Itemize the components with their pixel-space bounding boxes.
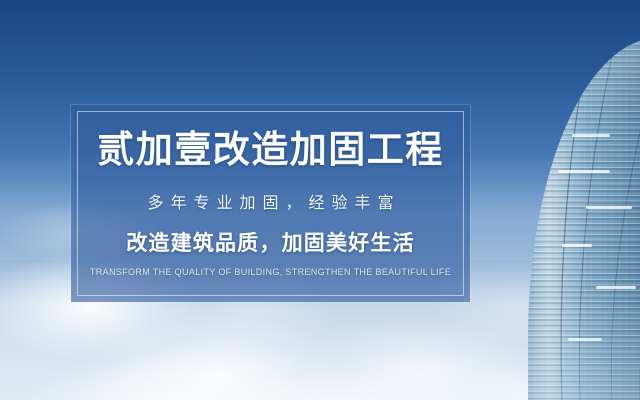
tower-shading-overlay [528,38,640,400]
banner-title: 贰加壹改造加固工程 [97,131,444,170]
banner-subtitle-secondary: 改造建筑品质，加固美好生活 [126,227,415,257]
skyscraper-image [510,38,640,400]
translucent-text-panel: 贰加壹改造加固工程 多年专业加固，经验丰富 改造建筑品质，加固美好生活 TRAN… [71,105,470,302]
hero-banner: 贰加壹改造加固工程 多年专业加固，经验丰富 改造建筑品质，加固美好生活 TRAN… [0,0,640,400]
tower-body [528,38,640,400]
banner-subtitle-english: TRANSFORM THE QUALITY OF BUILDING, STREN… [90,267,451,277]
panel-content: 贰加壹改造加固工程 多年专业加固，经验丰富 改造建筑品质，加固美好生活 TRAN… [71,105,470,302]
banner-subtitle-primary: 多年专业加固，经验丰富 [140,189,400,213]
